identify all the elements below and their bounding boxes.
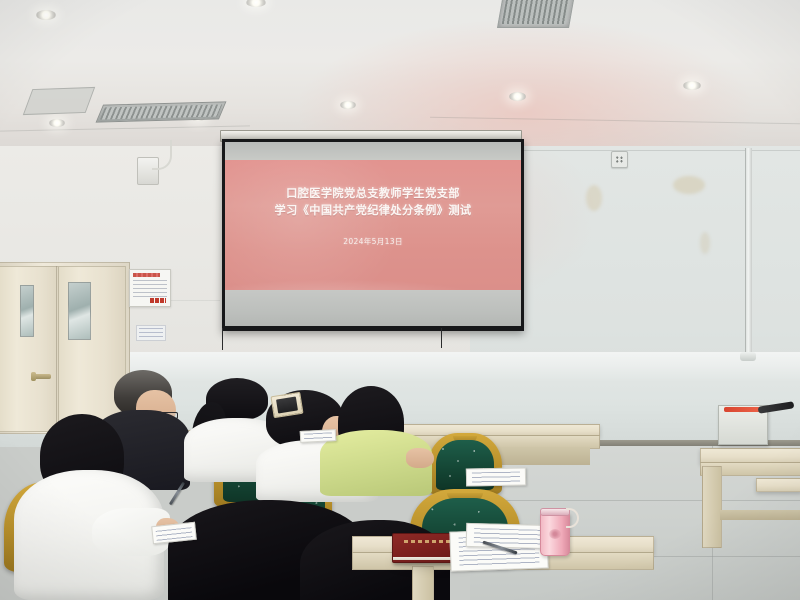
slide-title-line-1: 口腔医学院党总支教师学生党支部 <box>225 186 521 203</box>
door-window-left <box>20 285 34 337</box>
slide-date: 2024年5月13日 <box>225 236 521 247</box>
slide-light-sweep <box>225 258 521 290</box>
screen-top-margin <box>225 142 521 160</box>
door-seam <box>56 266 57 430</box>
sign-text-lines <box>133 280 167 297</box>
downlight-icon <box>36 10 56 20</box>
screen-bottom-margin <box>225 290 521 328</box>
wall-outlet <box>611 151 628 168</box>
test-paper-back <box>466 467 526 486</box>
screen-bottom-bar <box>222 326 524 331</box>
hair-clip <box>270 392 303 418</box>
table-right-rear <box>756 478 800 492</box>
person-woman-white-coat-left <box>14 414 164 600</box>
arm <box>406 448 434 468</box>
sign-red-mark <box>150 298 166 303</box>
screen-surface: 口腔医学院党总支教师学生党支部 学习《中国共产党纪律处分条例》测试 2024年5… <box>222 139 524 331</box>
slide-title-line-2: 学习《中国共产党纪律处分条例》测试 <box>225 203 521 220</box>
wall-blemish <box>673 176 705 194</box>
table-leg <box>412 566 434 600</box>
slide-title: 口腔医学院党总支教师学生党支部 学习《中国共产党纪律处分条例》测试 <box>225 186 521 219</box>
wall-blemish <box>700 232 710 254</box>
fire-safety-notice <box>129 269 171 307</box>
downlight-icon <box>509 92 526 101</box>
downlight-icon <box>49 119 65 127</box>
downlight-icon <box>340 101 356 109</box>
table-leg <box>702 466 722 548</box>
ceiling-panel <box>23 87 95 115</box>
classroom-photo: 口腔医学院党总支教师学生党支部 学习《中国共产党纪律处分条例》测试 2024年5… <box>0 0 800 600</box>
notebook-gold-title <box>404 540 452 543</box>
wall-blemish <box>586 185 602 211</box>
conduit-bracket <box>740 352 756 361</box>
person-woman-yellow-shirt <box>320 386 432 496</box>
projected-slide: 口腔医学院党总支教师学生党支部 学习《中国共产党纪律处分条例》测试 2024年5… <box>225 160 521 290</box>
door-handle[interactable] <box>34 374 51 379</box>
wall-conduit-pipe <box>745 148 752 356</box>
wall-notice-small <box>136 325 166 341</box>
ceiling-air-vent <box>497 0 575 28</box>
sign-header-bar <box>133 273 160 277</box>
projection-screen: 口腔医学院党总支教师学生党支部 学习《中国共产党纪律处分条例》测试 2024年5… <box>220 130 520 330</box>
downlight-icon <box>683 81 701 90</box>
cup-motif <box>549 529 561 539</box>
door-window-right <box>68 282 91 340</box>
test-paper-middle <box>300 429 337 443</box>
ceiling-air-vent <box>96 101 227 122</box>
table-right-shelf <box>720 510 800 520</box>
screen-pull-cord[interactable] <box>222 328 223 350</box>
screen-pull-cord[interactable] <box>441 328 442 348</box>
